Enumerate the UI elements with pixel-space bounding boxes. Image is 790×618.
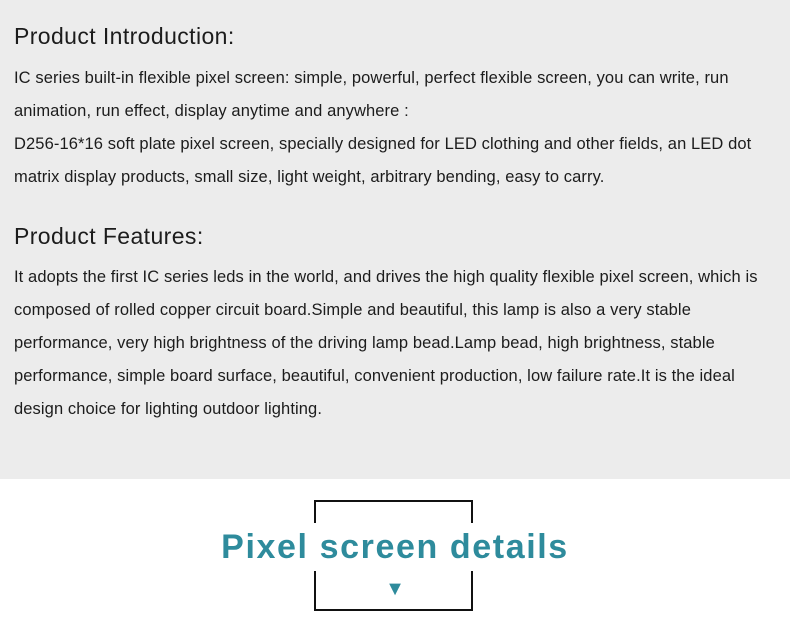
product-features-heading: Product Features:	[14, 219, 204, 253]
paragraph: It adopts the first IC series leds in th…	[14, 261, 772, 426]
product-features-text: It adopts the first IC series leds in th…	[14, 261, 772, 426]
pixel-screen-details-banner: Pixel screen details ▼	[0, 479, 790, 618]
paragraph: D256-16*16 soft plate pixel screen, spec…	[14, 128, 772, 194]
product-introduction-text: IC series built-in flexible pixel screen…	[14, 62, 772, 194]
banner-title-container: Pixel screen details	[0, 523, 790, 571]
banner-title: Pixel screen details	[221, 523, 569, 571]
product-introduction-heading: Product Introduction:	[14, 19, 235, 53]
paragraph: IC series built-in flexible pixel screen…	[14, 62, 772, 128]
product-description-panel: Product Introduction: IC series built-in…	[0, 0, 790, 479]
product-detail-page: Product Introduction: IC series built-in…	[0, 0, 790, 618]
